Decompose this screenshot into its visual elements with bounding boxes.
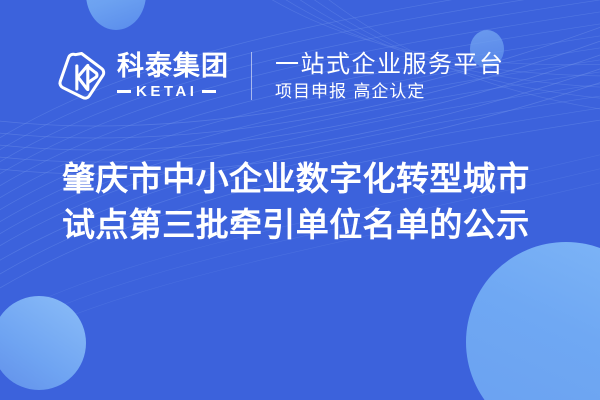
brand-english-row: KETAI: [117, 84, 229, 100]
circle-decoration-bottom-right: [466, 242, 600, 400]
brand-logo[interactable]: 科泰集团 KETAI: [58, 50, 229, 102]
ketai-diamond-monogram-logo-icon: [58, 50, 108, 102]
slogan-primary: 一站式企业服务平台: [275, 49, 505, 80]
header-slogan: 一站式企业服务平台 项目申报 高企认定: [275, 49, 505, 104]
banner-header: 科泰集团 KETAI 一站式企业服务平台 项目申报 高企认定: [0, 40, 600, 112]
brand-english-name: KETAI: [136, 84, 197, 100]
brand-logo-wordmark: 科泰集团 KETAI: [117, 53, 229, 100]
dash-right-icon: [202, 90, 216, 93]
circle-decoration-top: [86, 0, 146, 30]
header-divider: [251, 52, 252, 100]
dash-left-icon: [117, 90, 131, 93]
brand-chinese-name: 科泰集团: [117, 53, 229, 81]
page-title: 肇庆市中小企业数字化转型城市试点第三批牵引单位名单的公示: [62, 156, 556, 248]
slogan-secondary: 项目申报 高企认定: [275, 80, 505, 104]
circle-decoration-bottom-left: [0, 296, 86, 390]
announcement-banner: 科泰集团 KETAI 一站式企业服务平台 项目申报 高企认定 肇庆市中小企业数字…: [0, 0, 600, 400]
